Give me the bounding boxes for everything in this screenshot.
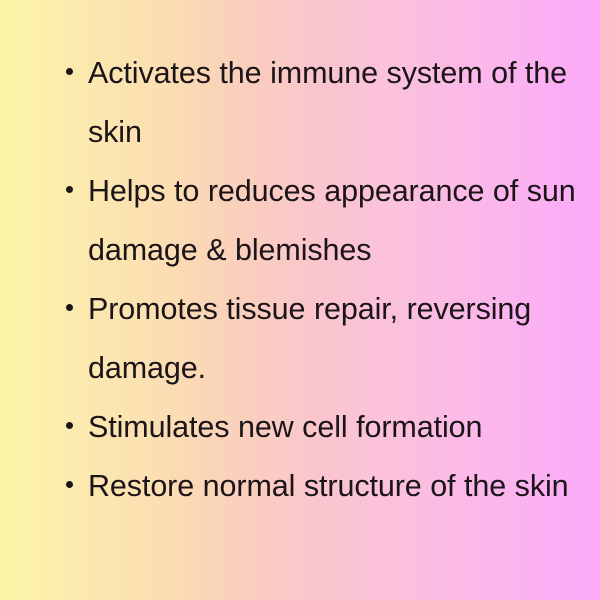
bullet-dot-icon (66, 186, 73, 193)
bullet-dot-icon (66, 68, 73, 75)
bullet-dot-icon (66, 481, 73, 488)
bullet-dot-icon (66, 422, 73, 429)
list-item: Stimulates new cell formation (66, 398, 580, 457)
list-item: Activates the immune system of the skin (66, 44, 580, 162)
list-item-label: Activates the immune system of the skin (88, 44, 580, 162)
list-item-label: Stimulates new cell formation (88, 398, 580, 457)
list-item-label: Promotes tissue repair, reversing damage… (88, 280, 580, 398)
list-item-label: Restore normal structure of the skin (88, 457, 580, 516)
benefits-poster: Activates the immune system of the skin … (0, 0, 600, 600)
list-item: Promotes tissue repair, reversing damage… (66, 280, 580, 398)
bullet-dot-icon (66, 304, 73, 311)
list-item-label: Helps to reduces appearance of sun damag… (88, 162, 580, 280)
benefits-list: Activates the immune system of the skin … (0, 0, 600, 516)
list-item: Restore normal structure of the skin (66, 457, 580, 516)
list-item: Helps to reduces appearance of sun damag… (66, 162, 580, 280)
